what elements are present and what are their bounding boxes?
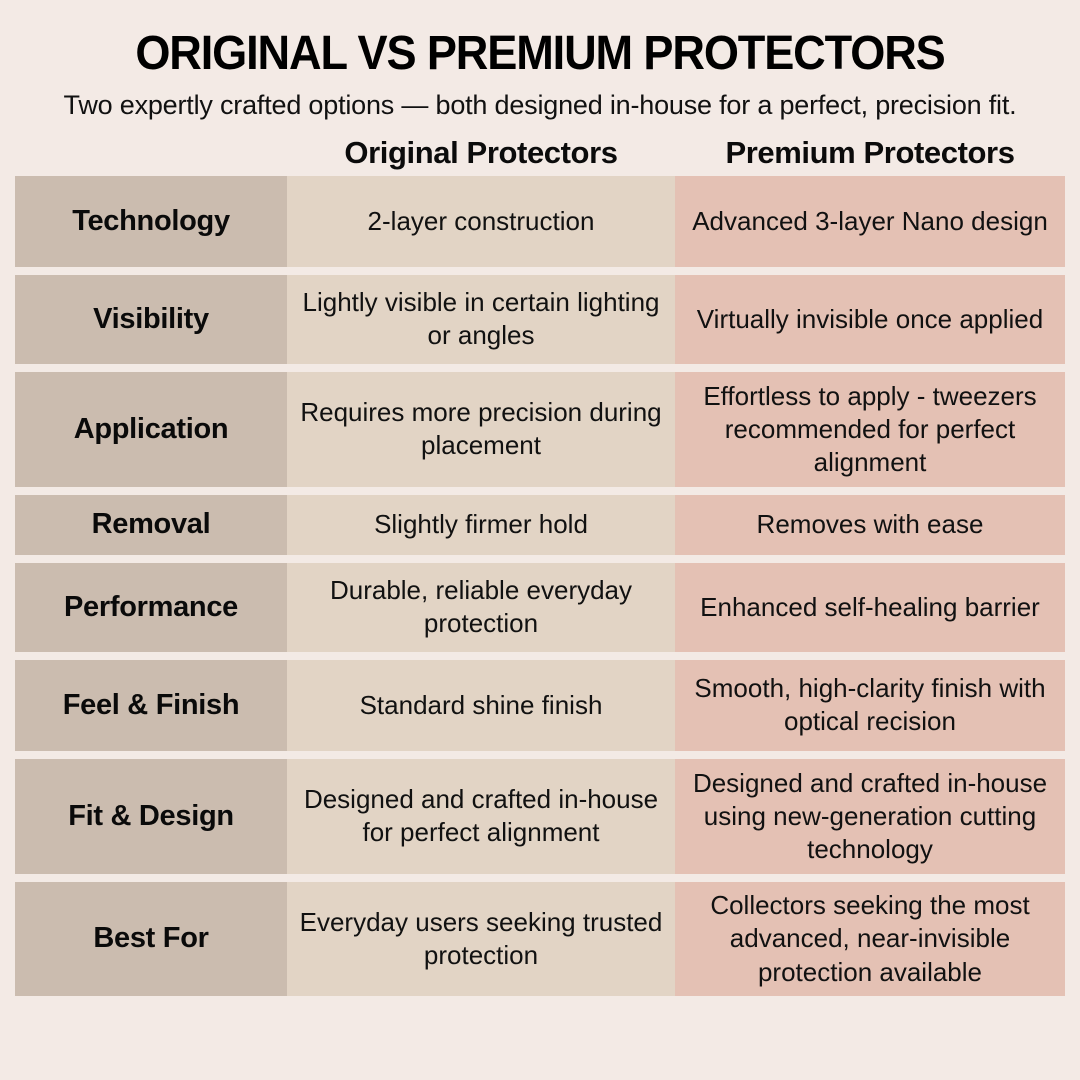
comparison-infographic: ORIGINAL VS PREMIUM PROTECTORS Two exper… bbox=[0, 0, 1080, 1080]
row-premium-value: Smooth, high-clarity finish with optical… bbox=[675, 660, 1065, 751]
row-premium-value: Advanced 3-layer Nano design bbox=[675, 176, 1065, 267]
table-row: Feel & Finish Standard shine finish Smoo… bbox=[15, 660, 1065, 751]
table-row: Fit & Design Designed and crafted in-hou… bbox=[15, 759, 1065, 874]
page-subtitle: Two expertly crafted options — both desi… bbox=[60, 90, 1020, 122]
row-premium-value: Virtually invisible once applied bbox=[675, 275, 1065, 364]
row-original-value: Lightly visible in certain lighting or a… bbox=[287, 275, 675, 364]
row-feature-label: Removal bbox=[15, 495, 287, 555]
table-row: Technology 2-layer construction Advanced… bbox=[15, 176, 1065, 267]
column-header-original: Original Protectors bbox=[287, 136, 675, 176]
table-row: Application Requires more precision duri… bbox=[15, 372, 1065, 487]
comparison-table: Technology 2-layer construction Advanced… bbox=[0, 176, 1080, 996]
row-original-value: Slightly firmer hold bbox=[287, 495, 675, 555]
row-feature-label: Fit & Design bbox=[15, 759, 287, 874]
row-original-value: Standard shine finish bbox=[287, 660, 675, 751]
row-feature-label: Technology bbox=[15, 176, 287, 267]
row-feature-label: Performance bbox=[15, 563, 287, 652]
table-row: Removal Slightly firmer hold Removes wit… bbox=[15, 495, 1065, 555]
table-row: Performance Durable, reliable everyday p… bbox=[15, 563, 1065, 652]
row-original-value: Designed and crafted in-house for perfec… bbox=[287, 759, 675, 874]
row-feature-label: Application bbox=[15, 372, 287, 487]
row-premium-value: Designed and crafted in-house using new-… bbox=[675, 759, 1065, 874]
column-header-feature-spacer bbox=[15, 136, 287, 176]
row-premium-value: Effortless to apply - tweezers recommend… bbox=[675, 372, 1065, 487]
row-original-value: Requires more precision during placement bbox=[287, 372, 675, 487]
page-title: ORIGINAL VS PREMIUM PROTECTORS bbox=[32, 30, 1047, 78]
row-premium-value: Removes with ease bbox=[675, 495, 1065, 555]
header: ORIGINAL VS PREMIUM PROTECTORS Two exper… bbox=[0, 0, 1080, 122]
row-feature-label: Visibility bbox=[15, 275, 287, 364]
row-premium-value: Enhanced self-healing barrier bbox=[675, 563, 1065, 652]
table-row: Visibility Lightly visible in certain li… bbox=[15, 275, 1065, 364]
row-original-value: Durable, reliable everyday protection bbox=[287, 563, 675, 652]
column-header-premium: Premium Protectors bbox=[675, 136, 1065, 176]
column-headers: Original Protectors Premium Protectors bbox=[0, 136, 1080, 176]
table-row: Best For Everyday users seeking trusted … bbox=[15, 882, 1065, 996]
row-original-value: 2-layer construction bbox=[287, 176, 675, 267]
row-feature-label: Best For bbox=[15, 882, 287, 996]
row-original-value: Everyday users seeking trusted protectio… bbox=[287, 882, 675, 996]
row-premium-value: Collectors seeking the most advanced, ne… bbox=[675, 882, 1065, 996]
row-feature-label: Feel & Finish bbox=[15, 660, 287, 751]
